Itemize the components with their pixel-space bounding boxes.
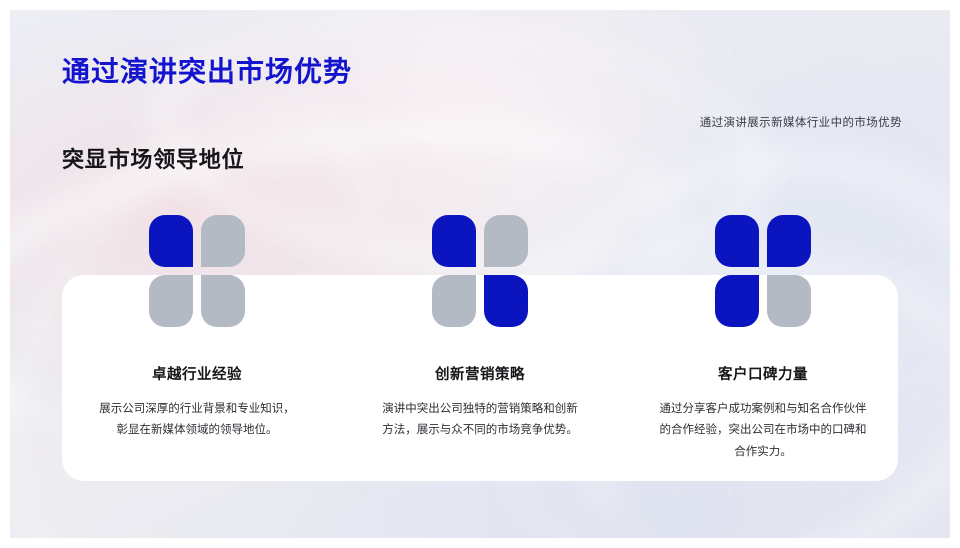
quad-cell-top-right [201,215,245,267]
feature-card-1-title: 卓越行业经验 [62,363,332,384]
feature-card-2-body: 演讲中突出公司独特的营销策略和创新方法，展示与众不同的市场竞争优势。 [381,399,579,442]
slide-canvas: 通过演讲突出市场优势 通过演讲展示新媒体行业中的市场优势 突显市场领导地位 卓越… [10,10,950,538]
quad-cell-top-right [484,215,528,267]
slide-title: 通过演讲突出市场优势 [62,50,352,90]
feature-card-1-body: 展示公司深厚的行业背景和专业知识，彰显在新媒体领域的领导地位。 [98,399,296,442]
feature-card-3-text: 客户口碑力量 通过分享客户成功案例和与知名合作伙伴的合作经验，突出公司在市场中的… [628,327,898,463]
quad-cell-bottom-right [767,275,811,327]
slide-caption: 通过演讲展示新媒体行业中的市场优势 [700,114,902,130]
feature-card-1-text: 卓越行业经验 展示公司深厚的行业背景和专业知识，彰显在新媒体领域的领导地位。 [62,327,332,442]
feature-card-2-text: 创新营销策略 演讲中突出公司独特的营销策略和创新方法，展示与众不同的市场竞争优势… [345,327,615,442]
feature-card-1: 卓越行业经验 展示公司深厚的行业背景和专业知识，彰显在新媒体领域的领导地位。 [62,215,332,481]
slide-frame: 通过演讲突出市场优势 通过演讲展示新媒体行业中的市场优势 突显市场领导地位 卓越… [0,0,960,548]
quad-cell-bottom-left [715,275,759,327]
feature-card-3: 客户口碑力量 通过分享客户成功案例和与知名合作伙伴的合作经验，突出公司在市场中的… [628,215,898,481]
feature-card-2: 创新营销策略 演讲中突出公司独特的营销策略和创新方法，展示与众不同的市场竞争优势… [345,215,615,481]
quad-square-icon [432,215,528,327]
quad-cell-top-left [715,215,759,267]
quad-cell-bottom-left [149,275,193,327]
quad-cell-bottom-left [432,275,476,327]
section-heading: 突显市场领导地位 [62,142,244,174]
feature-card-3-title: 客户口碑力量 [628,363,898,384]
quad-cell-bottom-right [201,275,245,327]
quad-square-icon [715,215,811,327]
quad-cell-top-left [432,215,476,267]
feature-card-2-title: 创新营销策略 [345,363,615,384]
quad-cell-top-right [767,215,811,267]
quad-square-icon [149,215,245,327]
feature-card-3-body: 通过分享客户成功案例和与知名合作伙伴的合作经验，突出公司在市场中的口碑和合作实力… [659,399,867,463]
quad-cell-top-left [149,215,193,267]
quad-cell-bottom-right [484,275,528,327]
feature-card-list: 卓越行业经验 展示公司深厚的行业背景和专业知识，彰显在新媒体领域的领导地位。 创… [62,215,898,481]
